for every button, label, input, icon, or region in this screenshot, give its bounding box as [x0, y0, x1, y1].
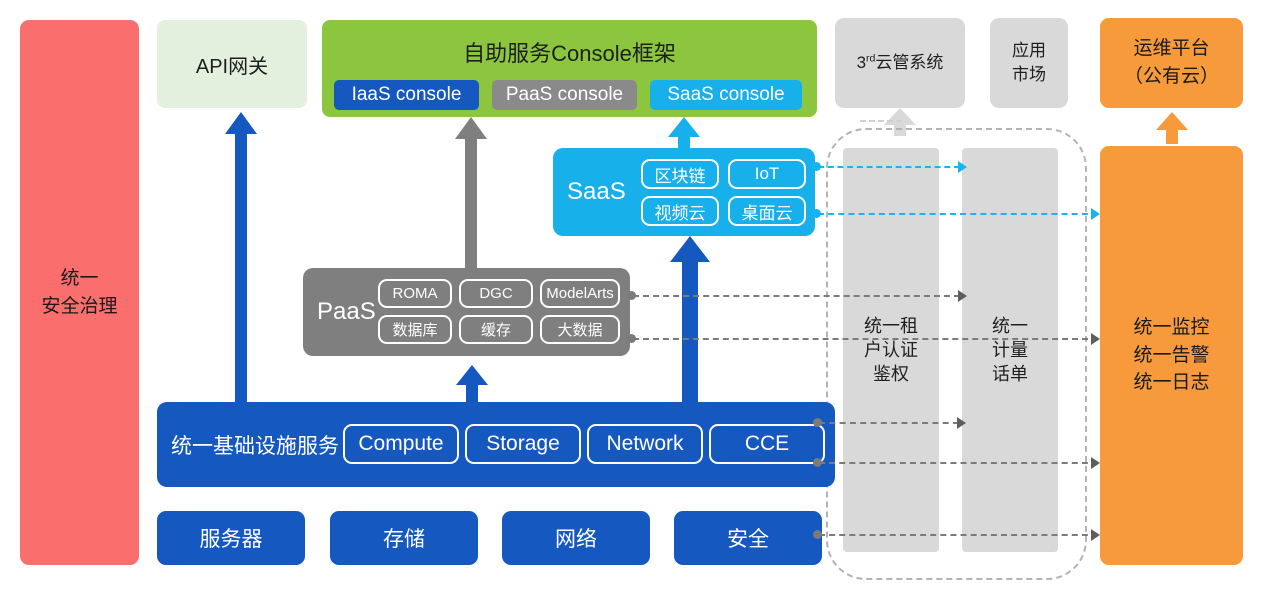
arrow-saas-to-console [668, 117, 700, 152]
architecture-diagram: 统一 安全治理 API网关 自助服务Console框架 IaaS console… [0, 0, 1265, 605]
unified-metering-line1: 统一 [992, 314, 1028, 338]
ops-platform-line1: 运维平台 [1133, 35, 1209, 63]
saas-service-blockchain[interactable]: 区块链 [641, 159, 719, 189]
security-governance-line1: 统一 [60, 265, 98, 293]
third-party-suffix: 云管系统 [875, 53, 943, 72]
unified-metering-line3: 话单 [992, 362, 1028, 386]
hardware-network-box: 网络 [502, 511, 650, 565]
unified-tenant-auth-line2: 户认证 [864, 338, 918, 362]
saas-service-video-cloud[interactable]: 视频云 [641, 196, 719, 226]
infra-service-compute[interactable]: Compute [343, 424, 459, 464]
paas-service-bigdata[interactable]: 大数据 [540, 315, 620, 344]
arrow-ops-capabilities-to-platform [1156, 112, 1188, 144]
unified-metering-line2: 计量 [992, 338, 1028, 362]
chip-paas-console-label: PaaS console [506, 84, 623, 106]
third-party-cloud-mgmt-box: 3rd云管系统 [835, 18, 965, 108]
chip-saas-console[interactable]: SaaS console [650, 80, 802, 110]
hardware-storage-box: 存储 [330, 511, 478, 565]
hardware-security-box: 安全 [674, 511, 822, 565]
connector-arrowhead-paas-auth [958, 290, 967, 302]
api-gateway-label: API网关 [196, 50, 268, 79]
arrow-paas-to-console [455, 117, 487, 269]
connector-arrowhead-hardware-ops [1091, 529, 1100, 541]
paas-layer-box: PaaS ROMA DGC ModelArts 数据库 缓存 大数据 [303, 268, 630, 356]
third-party-cloud-mgmt-label: 3rd云管系统 [857, 51, 944, 75]
hardware-server-label: 服务器 [200, 523, 263, 553]
saas-layer-box: SaaS 区块链 IoT 视频云 桌面云 [553, 148, 815, 236]
infra-service-network[interactable]: Network [587, 424, 703, 464]
paas-service-cache[interactable]: 缓存 [459, 315, 533, 344]
paas-service-roma[interactable]: ROMA [378, 279, 452, 308]
arrow-infra-to-saas [670, 236, 710, 402]
app-market-box: 应用 市场 [990, 18, 1068, 108]
chip-iaas-console[interactable]: IaaS console [334, 80, 479, 110]
arrow-infra-to-api-gateway [225, 112, 257, 402]
connector-saas-to-ops [818, 213, 1098, 215]
security-governance-panel: 统一 安全治理 [20, 20, 139, 565]
connector-arrowhead-infra-ops [1091, 457, 1100, 469]
ops-capabilities-line3: 统一日志 [1133, 369, 1209, 397]
saas-service-iot[interactable]: IoT [728, 159, 806, 189]
hardware-security-label: 安全 [727, 523, 769, 553]
ops-capabilities-line2: 统一告警 [1133, 342, 1209, 370]
infra-service-storage[interactable]: Storage [465, 424, 581, 464]
infra-layer-box: 统一基础设施服务 Compute Storage Network CCE [157, 402, 835, 487]
saas-layer-name: SaaS [567, 148, 626, 236]
connector-hardware-to-ops [819, 534, 1098, 536]
infra-service-cce[interactable]: CCE [709, 424, 825, 464]
hardware-storage-label: 存储 [383, 523, 425, 553]
connector-infra-to-ops [819, 462, 1098, 464]
console-framework-box: 自助服务Console框架 IaaS console PaaS console … [322, 20, 817, 117]
connector-infra-to-auth [819, 422, 959, 424]
console-framework-title: 自助服务Console框架 [322, 36, 817, 68]
unified-tenant-auth-line1: 统一租 [864, 314, 918, 338]
paas-service-database[interactable]: 数据库 [378, 315, 452, 344]
saas-service-desktop-cloud[interactable]: 桌面云 [728, 196, 806, 226]
connector-saas-to-auth [818, 166, 960, 168]
ops-platform-box: 运维平台 （公有云） [1100, 18, 1243, 108]
unified-metering-billing-column: 统一 计量 话单 [962, 148, 1058, 552]
chip-paas-console[interactable]: PaaS console [492, 80, 637, 110]
app-market-line1: 应用 [1012, 39, 1046, 63]
connector-arrowhead-saas-auth [958, 161, 967, 173]
ops-capabilities-line1: 统一监控 [1133, 314, 1209, 342]
connector-paas-to-auth [633, 295, 960, 297]
connector-arrowhead-saas-ops [1091, 208, 1100, 220]
connector-arrowhead-infra-auth [957, 417, 966, 429]
chip-saas-console-label: SaaS console [667, 84, 784, 106]
connector-arrowhead-paas-ops [1091, 333, 1100, 345]
hardware-network-label: 网络 [555, 523, 597, 553]
infra-layer-name: 统一基础设施服务 [171, 402, 339, 487]
unified-tenant-auth-column: 统一租 户认证 鉴权 [843, 148, 939, 552]
unified-tenant-auth-line3: 鉴权 [873, 362, 909, 386]
chip-iaas-console-label: IaaS console [352, 84, 462, 106]
paas-service-modelarts[interactable]: ModelArts [540, 279, 620, 308]
paas-layer-name: PaaS [317, 268, 376, 356]
hardware-server-box: 服务器 [157, 511, 305, 565]
third-party-prefix: 3 [857, 53, 866, 72]
paas-service-dgc[interactable]: DGC [459, 279, 533, 308]
ops-platform-line2: （公有云） [1124, 63, 1219, 91]
arrow-infra-to-paas [456, 365, 488, 403]
connector-container-to-third-party [860, 120, 902, 122]
app-market-line2: 市场 [1012, 63, 1046, 87]
ops-capabilities-panel: 统一监控 统一告警 统一日志 [1100, 146, 1243, 565]
security-governance-line2: 安全治理 [41, 293, 117, 321]
api-gateway-box: API网关 [157, 20, 307, 108]
